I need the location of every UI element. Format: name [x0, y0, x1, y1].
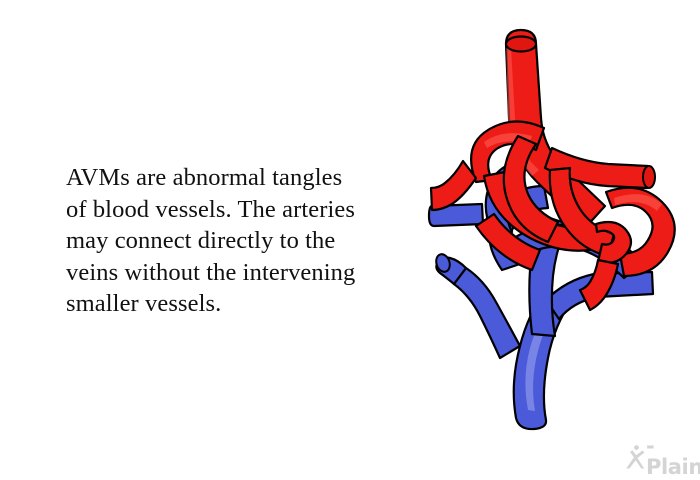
caption-line: smaller vessels.: [66, 288, 411, 320]
caption-text: AVMs are abnormal tangles of blood vesse…: [66, 162, 411, 320]
vein-left-branch: [454, 268, 520, 358]
caption-line: AVMs are abnormal tangles: [66, 162, 411, 194]
artery-right-lumen: [643, 166, 655, 188]
x-plain-person-logo-icon: [624, 444, 646, 470]
artery-trunk-lumen: [506, 37, 536, 52]
slide-canvas: AVMs are abnormal tangles of blood vesse…: [0, 0, 700, 480]
x-plain-logo: -Plain: [624, 441, 696, 473]
caption-line: of blood vessels. The arteries: [66, 194, 411, 226]
avm-vessel-svg: [410, 18, 680, 438]
logo-wordmark: -Plain: [646, 436, 700, 478]
artery-left-descender: [431, 161, 476, 210]
avm-illustration: [410, 18, 680, 438]
caption-line: may connect directly to the: [66, 225, 411, 257]
caption-line: veins without the intervening: [66, 257, 411, 289]
